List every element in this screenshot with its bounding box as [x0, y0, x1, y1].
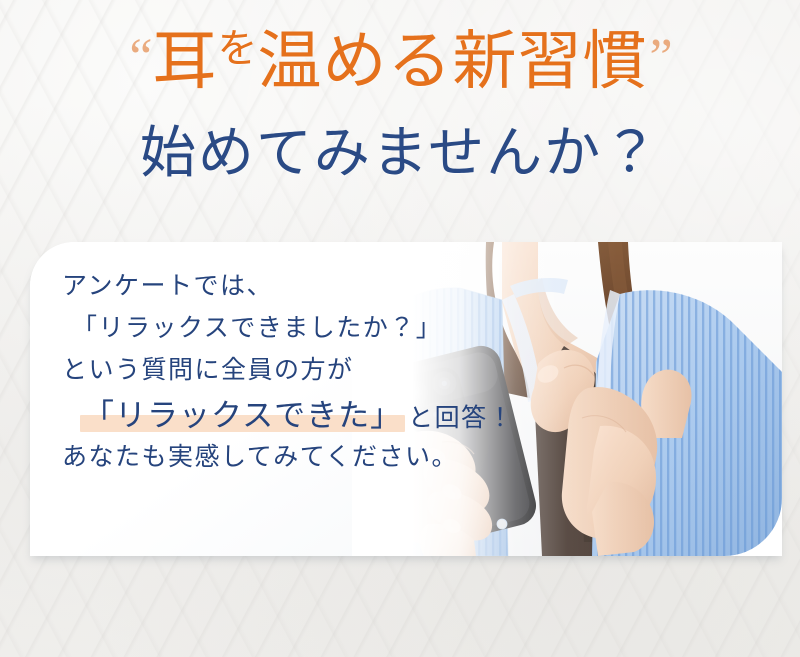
headline-orange-part2: 温める新習慣: [258, 28, 648, 95]
headline-block: “耳を温める新習慣” 始めてみませんか？: [0, 28, 800, 186]
highlighted-quote: 「リラックスできた」: [80, 400, 405, 431]
card-inner: アンケートでは、 「リラックスできましたか？」 という質問に全員の方が 「リラッ…: [30, 242, 782, 556]
headline-orange-part1: 耳: [153, 28, 218, 95]
copy-line-2: 「リラックスできましたか？」: [60, 316, 514, 341]
open-quote-icon: “: [129, 32, 150, 84]
copy-line-4: 「リラックスできた」と回答！: [60, 400, 514, 431]
copy-line-3: という質問に全員の方が: [60, 358, 514, 383]
copy-line-4-tail: と回答！: [408, 405, 514, 432]
page-root: “耳を温める新習慣” 始めてみませんか？: [0, 0, 800, 657]
testimonial-card: アンケートでは、 「リラックスできましたか？」 という質問に全員の方が 「リラッ…: [30, 242, 782, 556]
headline-orange-small: を: [218, 28, 258, 70]
card-copy: アンケートでは、 「リラックスできましたか？」 という質問に全員の方が 「リラッ…: [60, 274, 514, 470]
headline-line-2: 始めてみませんか？: [0, 124, 800, 186]
headline-line-1: “耳を温める新習慣”: [0, 28, 800, 118]
copy-line-5: あなたも実感してみてください。: [60, 445, 514, 470]
highlighted-quote-text: 「リラックスできた」: [83, 398, 402, 433]
close-quote-icon: ”: [650, 32, 671, 84]
copy-line-1: アンケートでは、: [60, 274, 514, 299]
headline-navy-text: 始めてみませんか？: [140, 124, 660, 186]
